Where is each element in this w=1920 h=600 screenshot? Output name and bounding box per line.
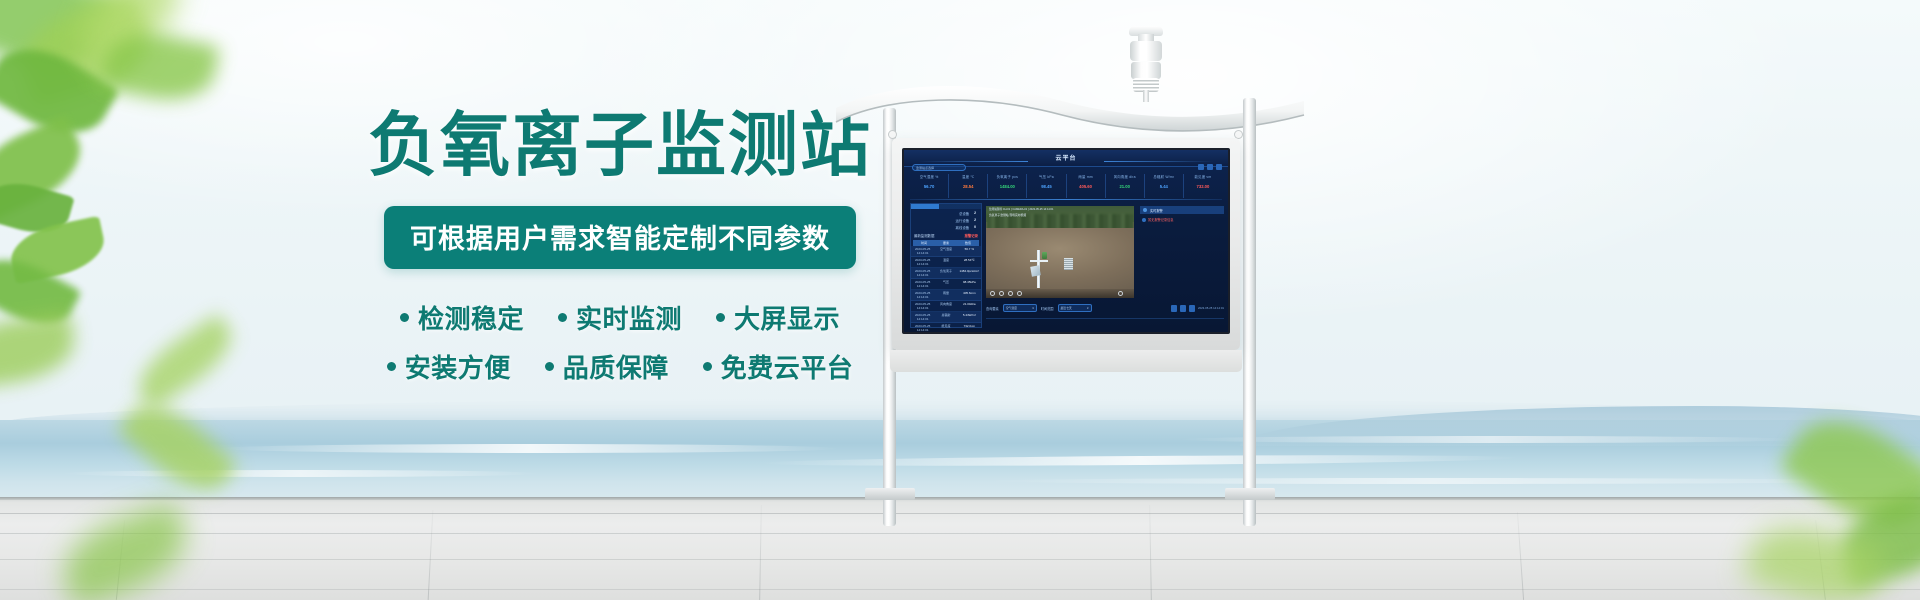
monitoring-station-kiosk: 云平台 监测站点选择 空气湿度 % 56.70 温度 ℃ 28.54 (830, 20, 1310, 500)
feed-osd-line2: 负氧离子监测站 现场实时视频 (989, 213, 1026, 217)
cell-item: 温度 (934, 257, 957, 267)
query-control-bar: 查询要素 空气湿度 ▾ 时间范围 最近七天 ▾ 2023-05-25 1 (986, 302, 1224, 314)
cell-item: 负氧离子 (934, 268, 957, 278)
cell-item: 空气湿度 (934, 246, 957, 256)
select-value: 空气湿度 (1006, 306, 1017, 310)
cell-item: 雨量 (934, 290, 957, 300)
fullscreen-icon (1118, 291, 1123, 296)
counter-label: 离线设备 (956, 225, 970, 230)
table-row[interactable]: 2023-05-25 14:14:01 温度 28.54℃ (911, 257, 981, 268)
counter-value: 2 (974, 218, 976, 223)
metrics-divider (910, 199, 1222, 200)
subtitle-pill: 可根据用户需求智能定制不同参数 (384, 206, 856, 269)
metrics-strip: 空气湿度 % 56.70 温度 ℃ 28.54 负氧离子 pcs 1484.00… (910, 174, 1222, 198)
cell-time: 2023-05-25 14:14:01 (911, 312, 934, 322)
alarm-panel-header: 实时报警 (1140, 206, 1224, 214)
data-list-header: 最新监测数据 报警记录 (911, 233, 981, 238)
metric-card: 温度 ℃ 28.54 (949, 174, 988, 198)
volume-icon (1017, 291, 1022, 296)
cell-item: 能见度 (934, 323, 957, 333)
metric-label: 负氧离子 pcs (988, 174, 1026, 179)
time-range-label: 时间范围 (1041, 306, 1054, 311)
alarm-bell-icon (1143, 208, 1147, 212)
cell-time: 2023-05-25 14:14:01 (911, 290, 934, 300)
table-row[interactable]: 2023-05-25 14:14:01 气压 98.45kPa (911, 279, 981, 290)
bullet-dot-icon (400, 313, 409, 322)
metric-value: 405.60 (1067, 184, 1105, 189)
cell-item: 风向角度 (934, 301, 957, 311)
site-selector-dropdown[interactable]: 监测站点选择 (912, 164, 966, 171)
cell-item: 气压 (934, 279, 957, 289)
feature-label: 大屏显示 (734, 299, 840, 336)
bullet-dot-icon (716, 313, 725, 322)
alert-link[interactable]: 报警记录 (964, 233, 978, 238)
feature-item: 检测稳定 (400, 299, 524, 336)
last-updated-timestamp: 2023-05-25 14:14:01 (1198, 306, 1224, 310)
refresh-icon[interactable] (1180, 305, 1186, 312)
list-title: 最新监测数据 (914, 233, 934, 238)
cell-time: 2023-05-25 14:14:01 (911, 268, 934, 278)
metric-card: 雨量 mm 405.60 (1067, 174, 1106, 198)
counter-label: 运行设备 (956, 218, 970, 223)
feature-label: 实时监测 (576, 299, 682, 336)
cell-value: 98.45kPa (958, 279, 981, 289)
display-base-shelf (890, 350, 1242, 372)
cell-value: 732.0vm (958, 323, 981, 333)
cell-time: 2023-05-25 14:14:01 (911, 257, 934, 267)
table-row[interactable]: 2023-05-25 14:14:01 总辐射 5.44W/m² (911, 312, 981, 323)
alarm-empty-text: 暂无报警记录信息 (1140, 217, 1224, 222)
metric-value: 732.00 (1184, 184, 1222, 189)
cell-value: 5.44W/m² (958, 312, 981, 322)
chevron-down-icon: ▾ (1032, 306, 1033, 310)
table-row[interactable]: 2023-05-25 14:14:01 风向角度 21.00dira (911, 301, 981, 312)
feature-label: 品质保障 (563, 348, 669, 385)
counter-label: 总设备 (959, 211, 969, 216)
cell-time: 2023-05-25 14:14:01 (911, 246, 934, 256)
cell-time: 2023-05-25 14:14:01 (911, 279, 934, 289)
settings-gear-icon[interactable] (1207, 164, 1213, 170)
base-plate-right (1225, 488, 1275, 500)
bullet-dot-icon (545, 362, 554, 371)
time-range-select[interactable]: 最近七天 ▾ (1058, 304, 1092, 312)
metric-value: 56.70 (910, 184, 948, 189)
metric-label: 空气湿度 % (910, 174, 948, 179)
metric-card: 气压 kPa 98.45 (1027, 174, 1066, 198)
cell-value: 56.7 % (958, 246, 981, 256)
trend-chart-area (986, 318, 1224, 329)
feature-item: 实时监测 (558, 299, 682, 336)
chevron-down-icon: ▾ (1087, 306, 1088, 310)
stone-plaza-ground (0, 497, 1920, 600)
select-value: 最近七天 (1061, 306, 1072, 310)
led-display-screen[interactable]: 云平台 监测站点选择 空气湿度 % 56.70 温度 ℃ 28.54 (902, 148, 1230, 334)
snapshot-icon (999, 291, 1004, 296)
cell-value: 28.54℃ (958, 257, 981, 267)
metric-value: 21.00 (1106, 184, 1144, 189)
metric-label: 能见度 vm (1184, 174, 1222, 179)
hero-banner: 负氧离子监测站 可根据用户需求智能定制不同参数 检测稳定 实时监测 大屏显示 (0, 0, 1920, 600)
cell-item: 总辐射 (934, 312, 957, 322)
feed-weather-station (1030, 250, 1048, 288)
metric-label: 雨量 mm (1067, 174, 1105, 179)
alarm-status-dot-icon (1142, 218, 1146, 222)
print-icon[interactable] (1189, 305, 1195, 312)
metric-value: 5.44 (1145, 184, 1183, 189)
metric-value: 98.45 (1027, 184, 1065, 189)
feature-item: 安装方便 (387, 348, 511, 385)
cell-value: 21.00dira (958, 301, 981, 311)
live-camera-feed[interactable]: 监测站现场 CH-01 [ CAMERA-01 ] 2023-05-25 14:… (986, 206, 1134, 298)
metric-card: 负氧离子 pcs 1484.00 (988, 174, 1027, 198)
cell-value: 405.6mm (958, 290, 981, 300)
metric-card: 能见度 vm 732.00 (1184, 174, 1222, 198)
feed-field (986, 228, 1134, 298)
table-row[interactable]: 2023-05-25 14:14:01 能见度 732.0vm (911, 323, 981, 334)
bullet-dot-icon (703, 362, 712, 371)
alarm-panel: 实时报警 暂无报警记录信息 (1140, 206, 1224, 298)
logout-icon[interactable] (1216, 164, 1222, 170)
metric-label: 总辐射 W/m² (1145, 174, 1183, 179)
export-icon[interactable] (1171, 305, 1177, 312)
query-element-select[interactable]: 空气湿度 ▾ (1003, 304, 1037, 312)
water-highlight (60, 470, 540, 477)
counter-value: 2 (974, 211, 976, 216)
device-counter: 离线设备 0 (911, 223, 981, 230)
header-icon-group[interactable] (1198, 164, 1222, 170)
cell-time: 2023-05-25 14:14:01 (911, 323, 934, 333)
dashboard-title: 云平台 (904, 153, 1228, 162)
cell-value: 1484.0pcs/cm³ (958, 268, 981, 278)
bullet-dot-icon (387, 362, 396, 371)
play-icon (990, 291, 995, 296)
user-icon[interactable] (1198, 164, 1204, 170)
metric-label: 气压 kPa (1027, 174, 1065, 179)
alarm-panel-title: 实时报警 (1150, 208, 1163, 213)
counter-value: 0 (974, 225, 976, 230)
table-row[interactable]: 2023-05-25 14:14:01 雨量 405.6mm (911, 290, 981, 301)
feature-item: 品质保障 (545, 348, 669, 385)
metric-card: 总辐射 W/m² 5.44 (1145, 174, 1184, 198)
metric-value: 1484.00 (988, 184, 1026, 189)
feed-equipment-box (1064, 258, 1073, 270)
device-counter: 运行设备 2 (911, 216, 981, 223)
device-counter: 总设备 2 (911, 209, 981, 216)
feature-label: 检测稳定 (418, 299, 524, 336)
feature-label: 安装方便 (405, 348, 511, 385)
feed-control-bar[interactable] (986, 289, 1134, 298)
metric-card: 风向角度 dira 21.00 (1106, 174, 1145, 198)
cell-time: 2023-05-25 14:14:01 (911, 301, 934, 311)
record-icon (1008, 291, 1013, 296)
metric-card: 空气湿度 % 56.70 (910, 174, 949, 198)
base-plate-left (865, 488, 915, 500)
feed-osd-line1: 监测站现场 CH-01 [ CAMERA-01 ] 2023-05-25 14:… (989, 207, 1053, 211)
metric-label: 风向角度 dira (1106, 174, 1144, 179)
metric-value: 28.54 (949, 184, 987, 189)
weather-sensor-icon (1125, 26, 1167, 98)
water-highlight (220, 444, 840, 453)
support-post-right (1243, 98, 1256, 526)
cloud-platform-dashboard[interactable]: 云平台 监测站点选择 空气湿度 % 56.70 温度 ℃ 28.54 (904, 150, 1228, 332)
feature-item: 大屏显示 (716, 299, 840, 336)
table-row[interactable]: 2023-05-25 14:14:01 负氧离子 1484.0pcs/cm³ (911, 268, 981, 279)
query-element-label: 查询要素 (986, 306, 999, 311)
metric-label: 温度 ℃ (949, 174, 987, 179)
bullet-dot-icon (558, 313, 567, 322)
device-summary-panel: 总设备 2 运行设备 2 离线设备 0 最新监测数据 报警记录 (910, 203, 982, 328)
table-row[interactable]: 2023-05-25 14:14:01 空气湿度 56.7 % (911, 246, 981, 257)
